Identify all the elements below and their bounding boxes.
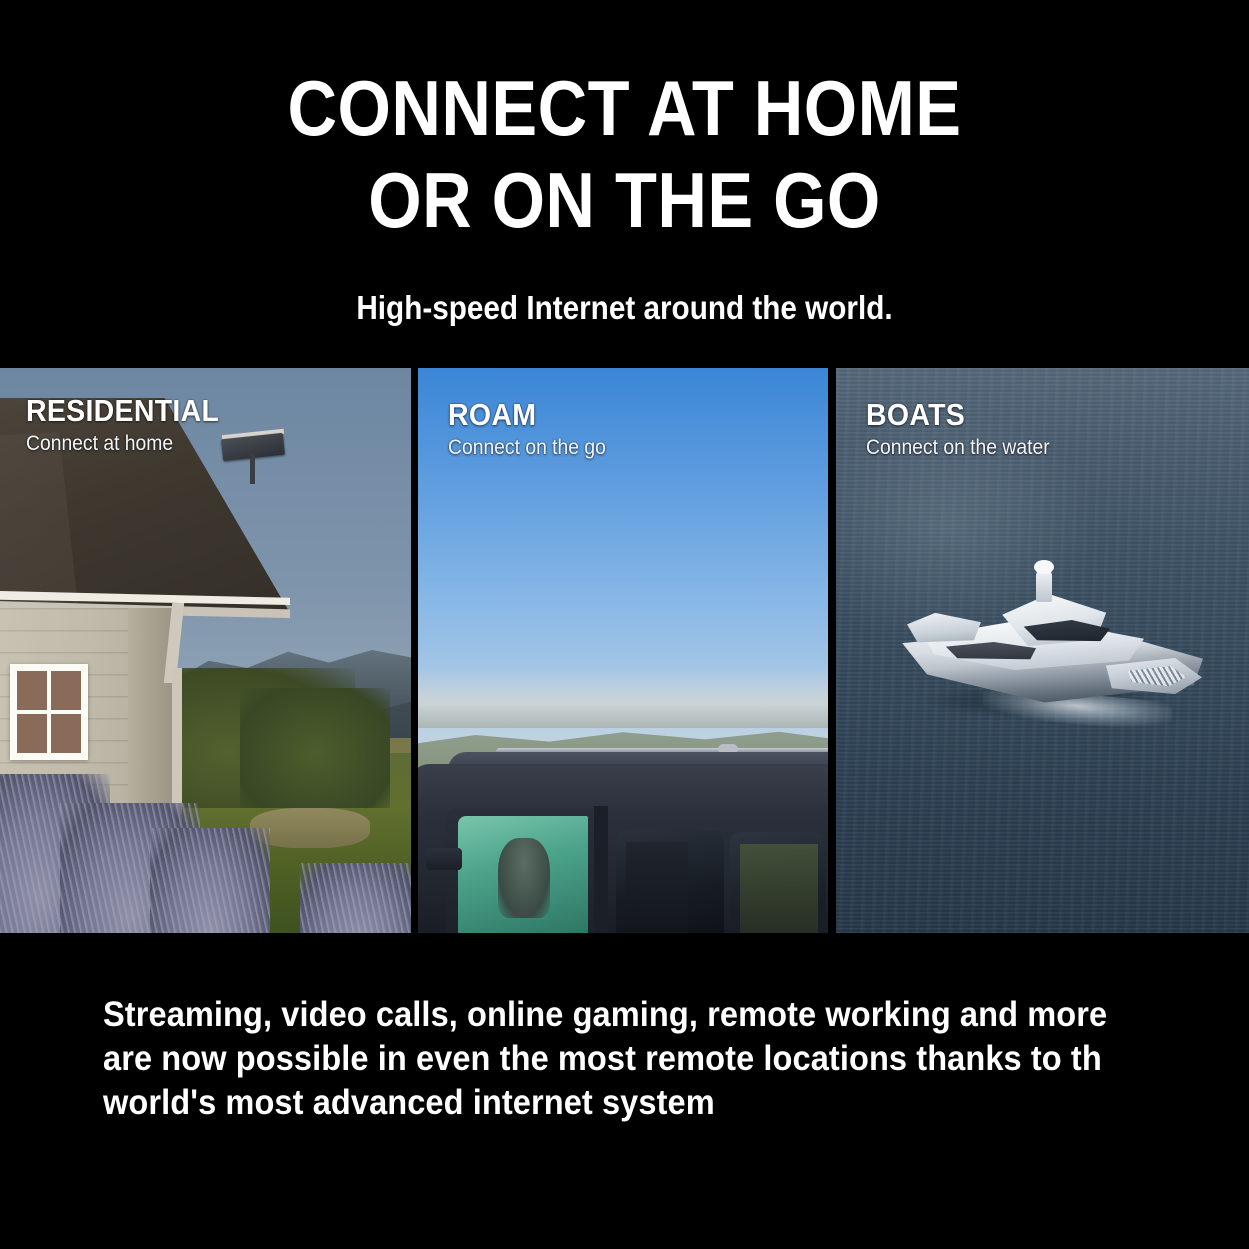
panel-roam-label: ROAM Connect on the go [448, 398, 620, 461]
yacht [896, 566, 1206, 726]
van-side-window-rear-glass [740, 844, 818, 933]
footer-section: Streaming, video calls, online gaming, r… [0, 933, 1249, 1249]
promo-page: CONNECT AT HOME OR ON THE GO High-speed … [0, 0, 1249, 1249]
panel-roam-subtitle: Connect on the go [448, 435, 606, 461]
header-section: CONNECT AT HOME OR ON THE GO High-speed … [0, 0, 1249, 368]
footer-paragraph: Streaming, video calls, online gaming, r… [103, 993, 1121, 1125]
panel-roam[interactable]: ROAM Connect on the go [418, 368, 828, 933]
lavender-bush [300, 863, 411, 933]
panel-roam-title: ROAM [448, 398, 606, 432]
residential-shrub-right [240, 688, 390, 808]
roam-van [418, 720, 828, 933]
yacht-radome-icon [1034, 560, 1054, 574]
panel-boats-subtitle: Connect on the water [866, 435, 1050, 461]
panel-residential-title: RESIDENTIAL [26, 394, 219, 428]
product-panels: RESIDENTIAL Connect at home [0, 368, 1249, 933]
panel-residential-subtitle: Connect at home [26, 431, 219, 457]
house-window [10, 664, 88, 760]
roam-horizon-haze [418, 668, 828, 728]
panel-boats[interactable]: BOATS Connect on the water [836, 368, 1249, 933]
satellite-dish-mount [250, 454, 255, 484]
van-b-pillar [594, 806, 608, 933]
van-driver [498, 838, 550, 918]
panel-boats-title: BOATS [866, 398, 1050, 432]
panel-residential[interactable]: RESIDENTIAL Connect at home [0, 368, 411, 933]
panel-boats-label: BOATS Connect on the water [866, 398, 1066, 461]
panel-residential-label: RESIDENTIAL Connect at home [26, 394, 236, 457]
page-subtitle: High-speed Internet around the world. [62, 288, 1186, 328]
page-headline: CONNECT AT HOME OR ON THE GO [75, 62, 1174, 246]
van-side-mirror [426, 848, 462, 870]
van-side-window-front-glass [626, 842, 688, 933]
lavender-bush [150, 828, 270, 933]
house-window-panes [17, 671, 81, 753]
